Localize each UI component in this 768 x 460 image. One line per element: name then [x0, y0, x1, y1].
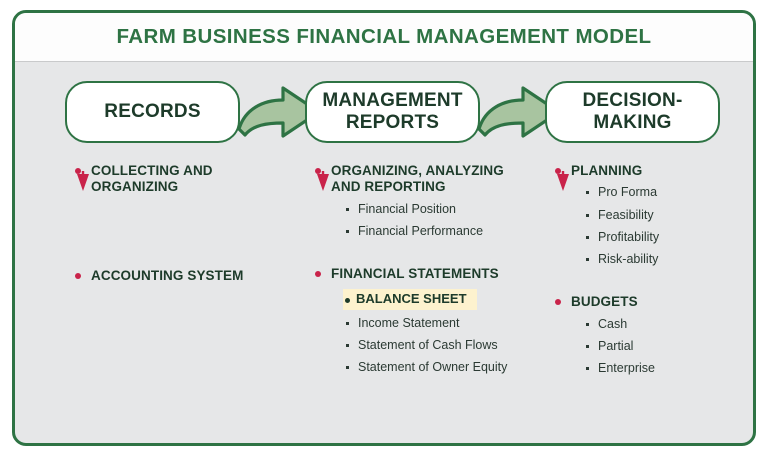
down-arrow-icon: [315, 171, 331, 191]
sub-item: Statement of Owner Equity: [345, 360, 522, 375]
sub-item-list: Pro FormaFeasibilityProfitabilityRisk-ab…: [571, 185, 756, 267]
stage-box-records: RECORDS: [65, 81, 240, 143]
group-heading: FINANCIAL STATEMENTS: [331, 266, 522, 282]
stage-box-management-reports: MANAGEMENTREPORTS: [305, 81, 480, 143]
diagram-frame: FARM BUSINESS FINANCIAL MANAGEMENT MODEL…: [12, 10, 756, 446]
bullet-group: ACCOUNTING SYSTEM: [67, 268, 282, 284]
group-spacer: [67, 196, 282, 268]
diagram-title-bar: FARM BUSINESS FINANCIAL MANAGEMENT MODEL: [15, 13, 753, 62]
sub-item: Risk-ability: [585, 252, 756, 267]
group-heading: PLANNING: [571, 163, 756, 179]
bullet-group: ORGANIZING, ANALYZING AND REPORTINGFinan…: [307, 163, 522, 239]
stage-box-decision-making: DECISION-MAKING: [545, 81, 720, 143]
group-spacer: [547, 274, 756, 294]
group-heading: ORGANIZING, ANALYZING AND REPORTING: [331, 163, 522, 196]
down-arrow-icon: [75, 171, 91, 191]
management-reports-column: ORGANIZING, ANALYZING AND REPORTINGFinan…: [307, 163, 522, 383]
sub-item-list: CashPartialEnterprise: [571, 317, 756, 377]
sub-item: Income Statement: [345, 316, 522, 331]
sub-item: Enterprise: [585, 361, 756, 376]
sub-item: Feasibility: [585, 208, 756, 223]
page-title: FARM BUSINESS FINANCIAL MANAGEMENT MODEL: [117, 25, 652, 49]
decision-making-column: PLANNINGPro FormaFeasibilityProfitabilit…: [547, 163, 756, 384]
group-spacer: [307, 246, 522, 266]
sub-item: Financial Position: [345, 202, 522, 217]
bullet-group: BUDGETSCashPartialEnterprise: [547, 294, 756, 376]
down-arrow-icon: [555, 171, 571, 191]
records-column: COLLECTING AND ORGANIZINGACCOUNTING SYST…: [67, 163, 282, 284]
stage-label-management-reports: MANAGEMENTREPORTS: [322, 90, 462, 134]
group-heading: ACCOUNTING SYSTEM: [91, 268, 282, 284]
sub-item: Financial Performance: [345, 224, 522, 239]
sub-item: Statement of Cash Flows: [345, 338, 522, 353]
bullet-group: COLLECTING AND ORGANIZING: [67, 163, 282, 196]
sub-item-list: Financial PositionFinancial Performance: [331, 202, 522, 240]
bullet-group: PLANNINGPro FormaFeasibilityProfitabilit…: [547, 163, 756, 267]
sub-item: Partial: [585, 339, 756, 354]
sub-item-highlighted: BALANCE SHEET: [343, 289, 477, 310]
stage-label-decision-making: DECISION-MAKING: [583, 90, 683, 134]
stage-label-records: RECORDS: [104, 101, 200, 123]
sub-item: Pro Forma: [585, 185, 756, 200]
bullet-group: FINANCIAL STATEMENTSBALANCE SHEETIncome …: [307, 266, 522, 375]
sub-item: Cash: [585, 317, 756, 332]
group-heading: BUDGETS: [571, 294, 756, 310]
sub-item-list: BALANCE SHEETIncome StatementStatement o…: [331, 289, 522, 376]
sub-item: Profitability: [585, 230, 756, 245]
group-heading: COLLECTING AND ORGANIZING: [91, 163, 282, 196]
